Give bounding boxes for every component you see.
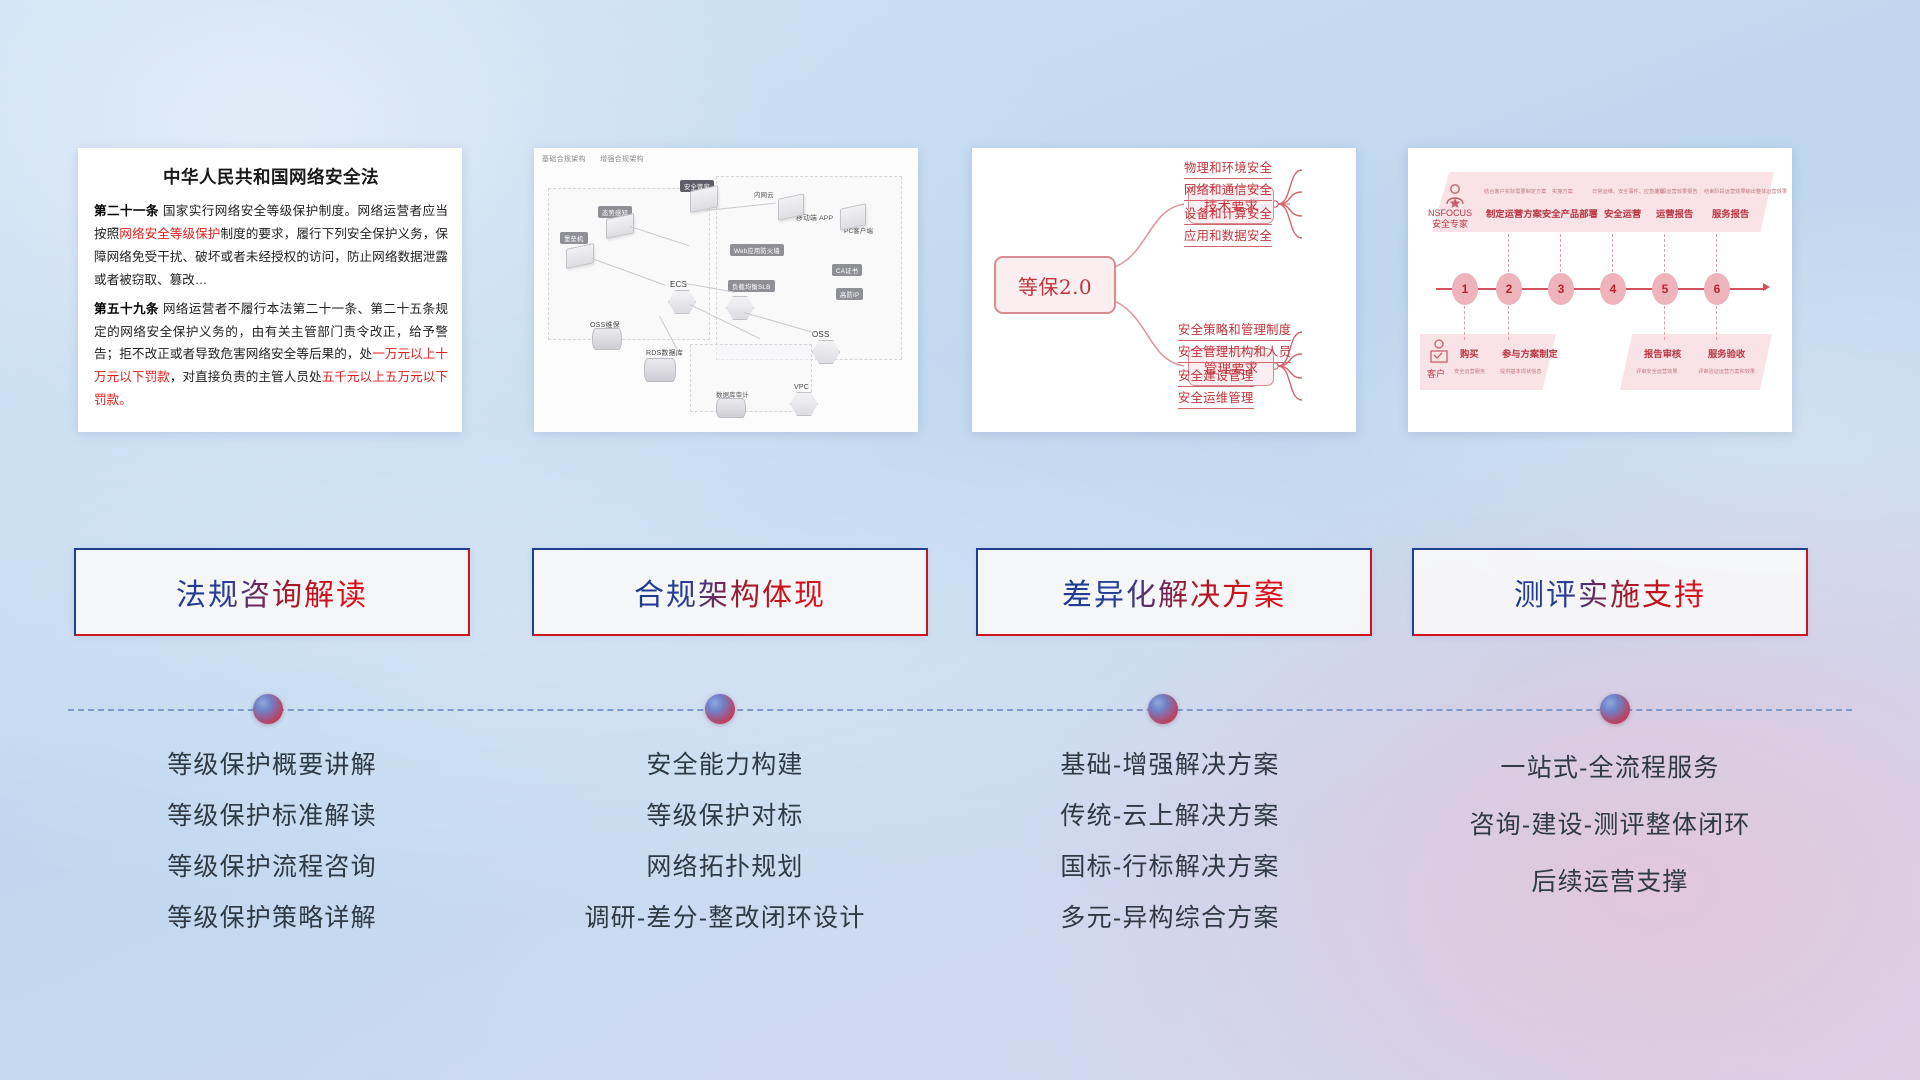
timeline-dot-4[interactable] — [1600, 694, 1630, 724]
list-item: 等级保护流程咨询 — [57, 842, 487, 893]
law-article-21-highlight: 网络安全等级保护 — [119, 227, 220, 241]
operations-top-major-1: 制定运营方案 — [1486, 206, 1542, 220]
list-item: 一站式-全流程服务 — [1395, 740, 1825, 797]
operations-top-minor-5: 结束阶段运营效果输出整体运营效果 — [1704, 188, 1787, 195]
law-article-21-label: 第二十一条 — [94, 204, 159, 218]
headline-label-3: 差异化解决方案 — [1062, 570, 1286, 614]
architecture-icon-cylinder-oss-maint — [592, 328, 622, 350]
operations-top-minor-4: 阶段运营效果报告 — [1656, 188, 1698, 195]
list-item: 网络拓扑规划 — [510, 842, 940, 893]
operations-step-5[interactable]: 5 — [1652, 273, 1678, 305]
operations-top-major-5: 服务报告 — [1712, 206, 1749, 220]
architecture-node-slb: 负载均衡SLB — [728, 280, 775, 292]
operations-top-major-2: 安全产品部署 — [1542, 206, 1598, 220]
list-item: 等级保护概要讲解 — [57, 740, 487, 791]
operations-tick-6 — [1716, 234, 1717, 272]
headline-assessment-support[interactable]: 测评实施支持 — [1412, 548, 1808, 636]
list-item: 传统-云上解决方案 — [955, 791, 1385, 842]
architecture-node-ca-cert: CA证书 — [832, 264, 862, 276]
list-item: 咨询-建设-测评整体闭环 — [1395, 797, 1825, 854]
operations-tick-2-bottom — [1508, 306, 1509, 340]
list-item: 国标-行标解决方案 — [955, 842, 1385, 893]
operations-top-minor-3: 日常运维、安全事件、应急处置 — [1592, 188, 1665, 195]
operations-tick-1-bottom — [1464, 306, 1465, 340]
operations-tick-6-bottom — [1716, 306, 1717, 340]
timeline-dot-1[interactable] — [253, 694, 283, 724]
operations-band-customer-right — [1620, 334, 1772, 390]
customer-role-label: 客户 — [1427, 369, 1445, 380]
card-dengbao-mindmap[interactable]: 等保2.0 技术要求 物理和环境安全 网络和通信安全 设备和计算安全 应用和数据… — [972, 148, 1356, 432]
card-nsfocus-operations[interactable]: NSFOCUS 安全专家 结合客户实际需要制定方案 制定运营方案 实施方案 安全… — [1408, 148, 1792, 432]
operations-bottom-minor-1: 安全运营服务 — [1454, 368, 1485, 375]
list-item: 调研-差分-整改闭环设计 — [510, 893, 940, 944]
timeline-dot-2[interactable] — [705, 694, 735, 724]
operations-top-minor-2: 实施方案 — [1552, 188, 1573, 195]
list-item: 多元-异构综合方案 — [955, 893, 1385, 944]
law-article-21: 第二十一条 国家实行网络安全等级保护制度。网络运营者应当按照网络安全等级保护制度… — [94, 200, 448, 292]
architecture-node-bastion-host: 堡垒机 — [560, 232, 588, 244]
operations-top-minor-1: 结合客户实际需要制定方案 — [1484, 188, 1546, 195]
operations-step-3[interactable]: 3 — [1548, 273, 1574, 305]
list-column-regulation: 等级保护概要讲解 等级保护标准解读 等级保护流程咨询 等级保护策略详解 — [57, 740, 487, 944]
operations-top-major-3: 安全运营 — [1604, 206, 1641, 220]
law-article-59-label: 第五十九条 — [94, 302, 159, 316]
operations-step-1[interactable]: 1 — [1452, 273, 1478, 305]
card-compliance-architecture[interactable]: 基础合规架构 增强合规架构 安全管家 态势感知 堡垒机 Web应用防火墙 负载均… — [534, 148, 918, 432]
operations-bottom-minor-4: 评审验证运营方案和效果 — [1698, 368, 1755, 375]
operations-bottom-major-2: 参与方案制定 — [1502, 346, 1558, 360]
list-item: 后续运营支撑 — [1395, 854, 1825, 911]
operations-tick-5 — [1664, 234, 1665, 272]
operations-tick-5-bottom — [1664, 306, 1665, 340]
operations-step-2[interactable]: 2 — [1496, 273, 1522, 305]
law-article-59-text-b: ，对直接负责的主管人员处 — [170, 370, 322, 384]
timeline-dot-3[interactable] — [1148, 694, 1178, 724]
architecture-node-intranet-cloud: 内网云 — [750, 188, 778, 200]
operations-bottom-minor-2: 提供基本现状信息 — [1500, 368, 1542, 375]
architecture-node-anti-ddos-ip: 高防IP — [836, 288, 863, 300]
operations-top-major-4: 运营报告 — [1656, 206, 1693, 220]
mindmap-leaf-construction-mgmt: 安全建设管理 — [1178, 366, 1254, 387]
expert-label: NSFOCUS 安全专家 — [1428, 208, 1472, 231]
card-cybersecurity-law[interactable]: 中华人民共和国网络安全法 第二十一条 国家实行网络安全等级保护制度。网络运营者应… — [78, 148, 462, 432]
architecture-node-vpc: VPC — [790, 382, 813, 392]
mindmap-leaf-org-personnel: 安全管理机构和人员 — [1178, 342, 1291, 363]
headline-label-1: 法规咨询解读 — [176, 570, 368, 614]
architecture-node-waf: Web应用防火墙 — [730, 244, 784, 256]
list-column-architecture: 安全能力构建 等级保护对标 网络拓扑规划 调研-差分-整改闭环设计 — [510, 740, 940, 944]
headline-label-2: 合规架构体现 — [634, 570, 826, 614]
list-item: 安全能力构建 — [510, 740, 940, 791]
list-column-solution: 基础-增强解决方案 传统-云上解决方案 国标-行标解决方案 多元-异构综合方案 — [955, 740, 1385, 944]
operations-bottom-major-3: 报告审核 — [1644, 346, 1681, 360]
list-item: 等级保护对标 — [510, 791, 940, 842]
preview-cards-row: 中华人民共和国网络安全法 第二十一条 国家实行网络安全等级保护制度。网络运营者应… — [0, 148, 1920, 438]
list-item: 等级保护标准解读 — [57, 791, 487, 842]
headline-differentiated-solution[interactable]: 差异化解决方案 — [976, 548, 1372, 636]
operations-axis-arrow — [1763, 283, 1770, 291]
architecture-node-oss: OSS — [808, 328, 834, 340]
law-title: 中华人民共和国网络安全法 — [94, 164, 448, 189]
mindmap-leaf-application-data: 应用和数据安全 — [1184, 226, 1272, 247]
operations-band-expert — [1432, 172, 1774, 232]
architecture-icon-cylinder-db-audit — [716, 398, 746, 418]
operations-step-6[interactable]: 6 — [1704, 273, 1730, 305]
expert-person-icon — [1442, 182, 1468, 208]
headline-compliance-architecture[interactable]: 合规架构体现 — [532, 548, 928, 636]
headline-regulation-consulting[interactable]: 法规咨询解读 — [74, 548, 470, 636]
law-article-59: 第五十九条 网络运营者不履行本法第二十一条、第二十五条规定的网络安全保护义务的，… — [94, 298, 448, 413]
expert-name: NSFOCUS — [1428, 208, 1472, 219]
operations-tick-4 — [1612, 234, 1613, 272]
timeline — [0, 690, 1920, 730]
architecture-header: 基础合规架构 增强合规架构 — [542, 154, 656, 164]
headline-label-4: 测评实施支持 — [1514, 570, 1706, 614]
expert-role: 安全专家 — [1428, 219, 1472, 230]
lists-row: 等级保护概要讲解 等级保护标准解读 等级保护流程咨询 等级保护策略详解 安全能力… — [0, 740, 1920, 980]
operations-tick-2 — [1508, 234, 1509, 272]
headline-row: 法规咨询解读 合规架构体现 差异化解决方案 测评实施支持 — [0, 548, 1920, 644]
operations-canvas: NSFOCUS 安全专家 结合客户实际需要制定方案 制定运营方案 实施方案 安全… — [1408, 148, 1792, 432]
operations-step-4[interactable]: 4 — [1600, 273, 1626, 305]
architecture-header-right: 增强合规架构 — [600, 156, 644, 163]
architecture-canvas: 安全管家 态势感知 堡垒机 Web应用防火墙 负载均衡SLB ECS CA证书 … — [540, 166, 912, 426]
mindmap-leaf-physical-environment: 物理和环境安全 — [1184, 158, 1272, 179]
operations-bottom-minor-3: 评审安全运营效果 — [1636, 368, 1678, 375]
timeline-dashed-line — [68, 709, 1852, 711]
mindmap-leaf-operations-mgmt: 安全运维管理 — [1178, 388, 1254, 409]
mindmap-leaf-network-communication: 网络和通信安全 — [1184, 180, 1272, 201]
operations-bottom-major-1: 购买 — [1460, 346, 1479, 360]
operations-bottom-major-4: 服务验收 — [1708, 346, 1745, 360]
list-item: 基础-增强解决方案 — [955, 740, 1385, 791]
mindmap-leaf-device-computing: 设备和计算安全 — [1184, 204, 1272, 225]
list-item: 等级保护策略详解 — [57, 893, 487, 944]
operations-tick-3 — [1560, 234, 1561, 272]
architecture-icon-cylinder-rds — [644, 358, 676, 382]
list-column-assessment: 一站式-全流程服务 咨询-建设-测评整体闭环 后续运营支撑 — [1395, 740, 1825, 911]
mindmap-root-node: 等保2.0 — [994, 256, 1116, 314]
mindmap-leaf-policy-system: 安全策略和管理制度 — [1178, 320, 1291, 341]
architecture-header-left: 基础合规架构 — [542, 156, 586, 163]
customer-person-icon — [1428, 338, 1450, 368]
